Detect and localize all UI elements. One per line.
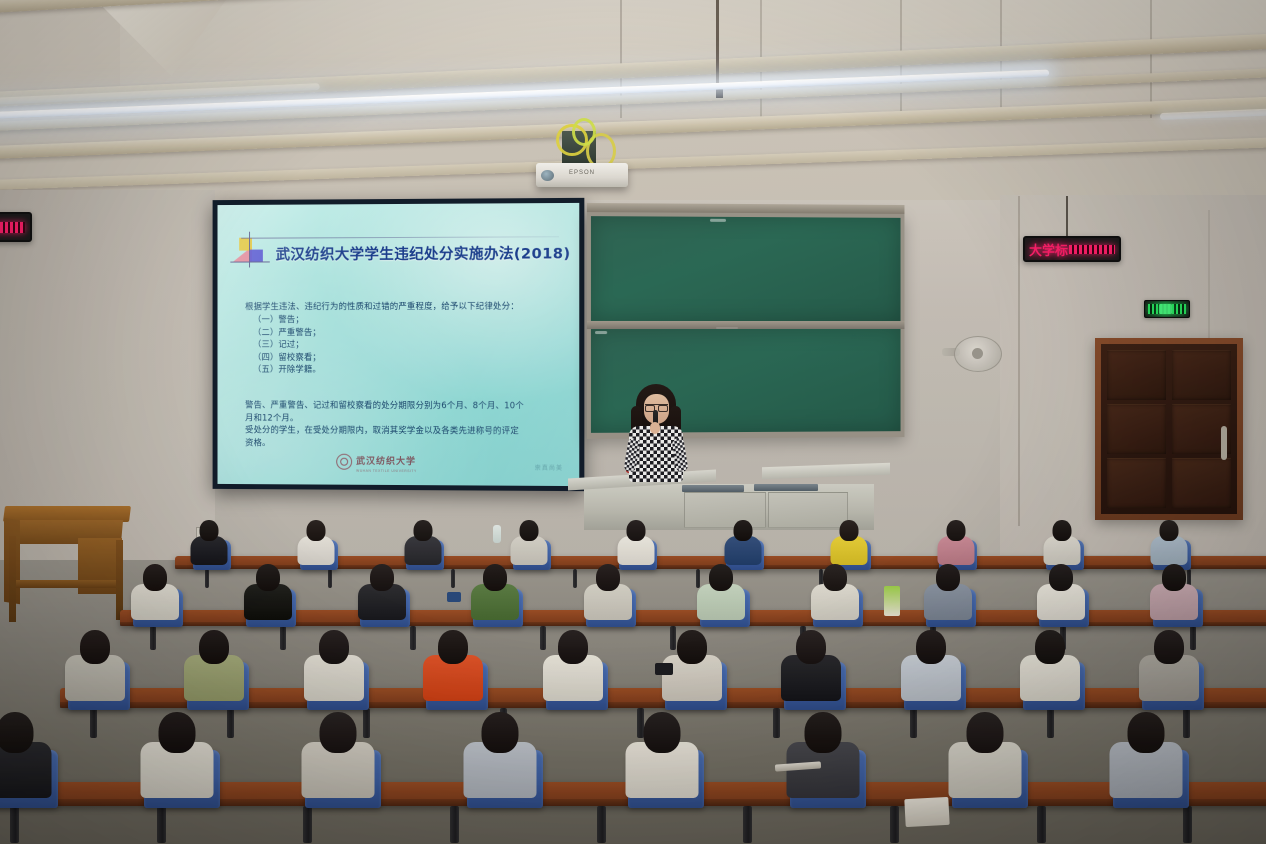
audience-member-head [200,520,219,541]
seat-support-post [1047,708,1054,738]
audience-member-head [80,630,110,664]
lecture-hall-photo: EPSON 武汉纺织大学学生违纪处分实施办法(2018) 根据学生违法、违纪行为… [0,0,1266,844]
audience-member-head [677,630,707,664]
slide-paragraph-2: 警告、严重警告、记过和留校察看的处分期限分别为6个月、8个月、10个 月和12个… [245,399,561,450]
audience-member-head [370,564,394,591]
desk-prop-book [884,586,900,616]
desk-leg-front-left [9,536,16,622]
desk-prop-phone-2 [447,592,461,602]
audience-member [462,712,538,805]
slide-title-rule [241,236,559,238]
projector: EPSON [536,163,628,187]
audience-member-head [840,520,859,541]
seat-support-post [573,569,577,588]
chalk-smudge-2 [595,331,607,334]
seat-support-post [1183,806,1192,843]
audience-member-head [558,630,588,664]
slide-p2-line1: 警告、严重警告、记过和留校察看的处分期限分别为6个月、8个月、10个 [245,399,561,412]
seat-support-post [303,806,312,843]
list-item: （四）留校察看； [253,351,561,364]
audience-member-head [1162,564,1186,591]
slide-p3-line1: 受处分的学生，在受处分期限内，取消其奖学金以及各类先进称号的评定 [245,424,561,438]
desk-prop-phone [655,663,673,675]
seat-support-post [773,708,780,738]
seat-support-post [328,569,332,588]
audience-member [724,520,762,568]
audience-member-head [438,630,468,664]
slide-title-row: 武汉纺织大学学生违纪处分实施办法(2018) [231,240,569,273]
audience-member [780,630,842,707]
ceiling [0,0,1266,215]
audience-member [183,630,245,707]
audience-member [300,712,376,805]
list-item: （二）严重警告； [253,326,561,339]
audience-member [303,630,365,707]
slide-p2-line2: 月和12个月。 [245,411,561,424]
chalk-smudge-3 [716,327,738,329]
audience-member-head [320,712,357,753]
audience-member [947,712,1023,805]
audience-member [1036,564,1086,625]
audience-member-head [1035,630,1065,664]
slide-p3-line2: 资格。 [245,436,561,450]
seat-support-post [890,806,899,843]
seat-support-post [450,806,459,843]
slide-penalty-list: （一）警告； （二）严重警告； （三）记过； （四）留校察看； （五）开除学籍。 [245,313,561,375]
audience-member [130,564,180,625]
audience-member [624,712,700,805]
slide-decoration-icon [233,236,271,274]
university-name-en: WUHAN TEXTILE UNIVERSITY [356,469,417,473]
classroom-door[interactable] [1095,338,1243,520]
led-scroll-blocks [1069,245,1115,254]
audience-member [1019,630,1081,707]
projection-screen: 武汉纺织大学学生违纪处分实施办法(2018) 根据学生违法、违纪行为的性质和过错… [213,198,585,491]
audience-member-head [143,564,167,591]
seat-support-post [227,708,234,738]
audience-member-head [947,520,966,541]
desk-prop-notebook [904,797,949,827]
ceiling-seam-5 [1150,0,1152,118]
audience-member-head [936,564,960,591]
seat-support-post [1037,806,1046,843]
audience-member [190,520,228,568]
chalk-smudge-1 [710,219,726,222]
audience-member [542,630,604,707]
seat-support-post [205,569,209,588]
audience-member-head [644,712,681,753]
audience-member-head [709,564,733,591]
desk-stretcher [14,580,119,588]
audience-member-head [0,712,34,753]
led-scroll-blocks-left [0,222,25,233]
audience-member [696,564,746,625]
podium-keyboard-tray-left [682,485,744,492]
university-name-cn: 武汉纺织大学 [356,457,416,467]
audience-member [404,520,442,568]
audience-member-head [596,564,620,591]
door-panel-row-top [1107,350,1231,400]
presenter-hand [650,422,660,434]
audience-member-head [482,712,519,753]
podium-keyboard-tray-right [754,484,818,491]
list-item: （五）开除学籍。 [253,363,561,376]
audience-member-head [1049,564,1073,591]
audience-member [0,712,53,805]
list-item: （三）记过； [253,338,561,350]
audience-member-head [307,520,326,541]
slide-title: 武汉纺织大学学生违纪处分实施办法(2018) [276,242,571,264]
seat-support-post [410,626,416,650]
audience-member-head [734,520,753,541]
audience-member-head [627,520,646,541]
audience-member-head [414,520,433,541]
led-display-left[interactable] [0,212,32,242]
podium-desktop-right [762,463,890,479]
audience-member [937,520,975,568]
led-display-text: 大学标 [1029,240,1068,259]
desk-leg-front-right [116,540,123,620]
slide-corner-watermark: 崇真尚美 [535,463,563,472]
led-green-highlight [1159,304,1172,314]
ceiling-hanger-1 [716,0,719,92]
audience-member [1149,564,1199,625]
door-panel-row-mid [1107,404,1231,454]
seat-support-post [90,708,97,738]
seat-support-post [910,708,917,738]
audience-member [810,564,860,625]
audience-member [243,564,293,625]
audience-member [64,630,126,707]
audience-member [1150,520,1188,568]
fan-hub [972,348,983,359]
slide-lead-text: 根据学生违法、违纪行为的性质和过错的严重程度，给予以下纪律处分： [245,300,561,313]
led-display-main[interactable]: 大学标 [1023,236,1121,262]
slide-body: 根据学生违法、违纪行为的性质和过错的严重程度，给予以下纪律处分： （一）警告； … [245,300,561,450]
chalkboard-top-rail [587,203,905,214]
audience-member [900,630,962,707]
university-logo: 武汉纺织大学 WUHAN TEXTILE UNIVERSITY [336,451,417,473]
audience-member-head [1053,520,1072,541]
audience-member [617,520,655,568]
audience-member-head [483,564,507,591]
led-sign-cable [1066,196,1068,238]
seat-support-post [280,626,286,650]
projector-cable-loop-3 [572,118,596,146]
audience-member-head [1128,712,1165,753]
audience-member-head [319,630,349,664]
presenter [620,384,692,480]
seat-support-post [10,806,19,843]
audience-member-head [796,630,826,664]
audience-member-head [1160,520,1179,541]
audience-member-head [967,712,1004,753]
audience-member [510,520,548,568]
audience-member [297,520,335,568]
audience-member [357,564,407,625]
seat-support-post [1183,708,1190,738]
chalkboard-divider-rail [587,321,905,329]
audience-member-head [916,630,946,664]
audience-member [470,564,520,625]
audience-member [139,712,215,805]
audience-member [1043,520,1081,568]
wall-corner-seam [1018,196,1020,526]
led-display-green[interactable] [1144,300,1190,318]
seat-support-post [150,626,156,650]
seat-support-post [597,806,606,843]
chalkboard-panel-upper [591,216,901,321]
seat-support-post [157,806,166,843]
audience-member-head [823,564,847,591]
seat-support-post [451,569,455,588]
audience-member [785,712,861,805]
audience-member-head [1154,630,1184,664]
audience-member-head [159,712,196,753]
desk-prop-bottle [493,525,501,543]
door-panel-row-bottom [1107,458,1231,508]
audience-member [1138,630,1200,707]
wooden-side-desk [4,506,130,624]
audience-member-head [805,712,842,753]
seat-support-post [743,806,752,843]
audience-member [1108,712,1184,805]
audience-member-head [520,520,539,541]
door-handle[interactable] [1221,426,1227,460]
audience-member-head [199,630,229,664]
audience-member [422,630,484,707]
audience-member [583,564,633,625]
projector-brand-label: EPSON [536,170,628,176]
audience-member [830,520,868,568]
audience-member-head [256,564,280,591]
door-leaf [1101,344,1237,514]
wall-fan[interactable] [942,336,1000,376]
audience-member [923,564,973,625]
list-item: （一）警告； [253,313,561,326]
presentation-slide: 武汉纺织大学学生违纪处分实施办法(2018) 根据学生违法、违纪行为的性质和过错… [218,203,580,486]
university-seal-icon [336,454,352,470]
